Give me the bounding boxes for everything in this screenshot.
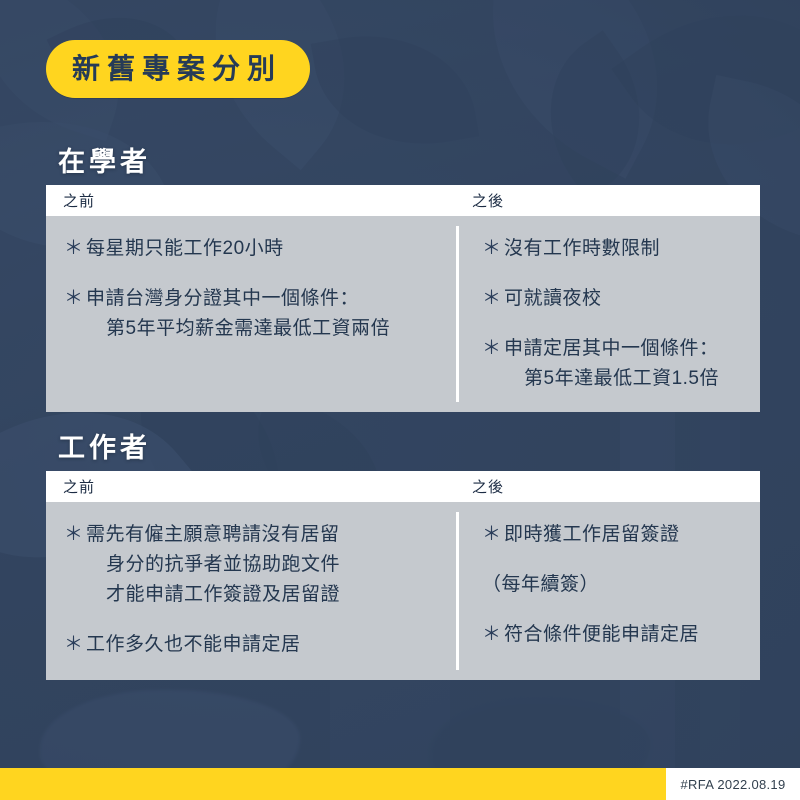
footer-credit: #RFA 2022.08.19 <box>666 768 800 800</box>
list-item-line: （每年續簽） <box>482 570 750 600</box>
list-item-line: 才能申請工作簽證及居留證 <box>86 580 446 610</box>
list-item-text: 申請台灣身分證其中一個條件： 第5年平均薪金需達最低工資兩倍 <box>86 284 446 344</box>
list-item-line: 可就讀夜校 <box>504 284 750 314</box>
section-student-heading: 在學者 <box>58 146 760 178</box>
list-item-line: 需先有僱主願意聘請沒有居留 <box>86 520 446 550</box>
list-item-line: 申請定居其中一個條件： <box>504 334 750 364</box>
table-body-row: ＊ 需先有僱主願意聘請沒有居留 身分的抗爭者並協助跑文件 才能申請工作簽證及居留… <box>46 502 760 680</box>
list-item-text: 可就讀夜校 <box>504 284 750 314</box>
asterisk-icon: ＊ <box>482 234 504 264</box>
list-item-text: 需先有僱主願意聘請沒有居留 身分的抗爭者並協助跑文件 才能申請工作簽證及居留證 <box>86 520 446 610</box>
list-item-line: 工作多久也不能申請定居 <box>86 630 446 660</box>
asterisk-icon: ＊ <box>482 620 504 650</box>
list-item-line: 第5年平均薪金需達最低工資兩倍 <box>86 314 446 344</box>
title-badge: 新舊專案分別 <box>46 40 310 98</box>
section-student: 在學者 之前 之後 ＊ 每星期只能工作20小時 ＊ <box>46 146 760 412</box>
list-item: ＊ 沒有工作時數限制 <box>482 234 750 264</box>
table-header-row: 之前 之後 <box>46 186 760 216</box>
column-before: ＊ 需先有僱主願意聘請沒有居留 身分的抗爭者並協助跑文件 才能申請工作簽證及居留… <box>46 502 456 680</box>
list-item-line: 第5年達最低工資1.5倍 <box>504 364 750 394</box>
list-item-line: 每星期只能工作20小時 <box>86 234 446 264</box>
column-header-after: 之後 <box>456 480 760 495</box>
list-item: ＊ 需先有僱主願意聘請沒有居留 身分的抗爭者並協助跑文件 才能申請工作簽證及居留… <box>64 520 446 610</box>
list-item-text: 符合條件便能申請定居 <box>504 620 750 650</box>
comparison-table-worker: 之前 之後 ＊ 需先有僱主願意聘請沒有居留 身分的抗爭者並協助跑文件 才能申請工… <box>46 471 760 680</box>
column-header-after: 之後 <box>456 194 760 209</box>
section-worker-heading: 工作者 <box>58 432 760 464</box>
list-item-line: 沒有工作時數限制 <box>504 234 750 264</box>
column-after: ＊ 沒有工作時數限制 ＊ 可就讀夜校 ＊ 申請定居 <box>456 216 760 412</box>
section-worker: 工作者 之前 之後 ＊ 需先有僱主願意聘請沒有居留 身分的抗爭者並協助跑文件 才… <box>46 432 760 680</box>
list-item-text: 即時獲工作居留簽證 <box>504 520 750 550</box>
asterisk-icon: ＊ <box>64 520 86 550</box>
column-header-before: 之前 <box>46 480 456 495</box>
title-badge-text: 新舊專案分別 <box>72 55 284 83</box>
list-item-line: 身分的抗爭者並協助跑文件 <box>86 550 446 580</box>
column-header-before: 之前 <box>46 194 456 209</box>
infographic-poster: 新舊專案分別 在學者 之前 之後 ＊ 每星期只能工作20小時 ＊ <box>0 0 800 800</box>
list-item-text: 申請定居其中一個條件： 第5年達最低工資1.5倍 <box>504 334 750 394</box>
list-item-text: （每年續簽） <box>482 570 750 600</box>
table-body-row: ＊ 每星期只能工作20小時 ＊ 申請台灣身分證其中一個條件： 第5年平均薪金需達… <box>46 216 760 412</box>
table-header-row: 之前 之後 <box>46 472 760 502</box>
list-item: ＊ 申請定居其中一個條件： 第5年達最低工資1.5倍 <box>482 334 750 394</box>
column-before: ＊ 每星期只能工作20小時 ＊ 申請台灣身分證其中一個條件： 第5年平均薪金需達… <box>46 216 456 412</box>
list-item-line: 符合條件便能申請定居 <box>504 620 750 650</box>
footer-accent-bar <box>0 768 666 800</box>
list-item-text: 工作多久也不能申請定居 <box>86 630 446 660</box>
list-item-line: 申請台灣身分證其中一個條件： <box>86 284 446 314</box>
asterisk-icon: ＊ <box>64 234 86 264</box>
list-item-text: 每星期只能工作20小時 <box>86 234 446 264</box>
asterisk-icon: ＊ <box>482 284 504 314</box>
asterisk-icon: ＊ <box>64 630 86 660</box>
asterisk-icon: ＊ <box>482 334 504 364</box>
list-item: ＊ 工作多久也不能申請定居 <box>64 630 446 660</box>
list-item: ＊ 可就讀夜校 <box>482 284 750 314</box>
list-item: ＊ 申請台灣身分證其中一個條件： 第5年平均薪金需達最低工資兩倍 <box>64 284 446 344</box>
list-item: （每年續簽） <box>482 570 750 600</box>
leaf-shape <box>311 18 480 162</box>
list-item: ＊ 每星期只能工作20小時 <box>64 234 446 264</box>
list-item: ＊ 符合條件便能申請定居 <box>482 620 750 650</box>
column-after: ＊ 即時獲工作居留簽證 （每年續簽） ＊ 符合條 <box>456 502 760 680</box>
comparison-table-student: 之前 之後 ＊ 每星期只能工作20小時 ＊ 申請台灣身分證其中一個條件： <box>46 185 760 412</box>
list-item-line: 即時獲工作居留簽證 <box>504 520 750 550</box>
footer: #RFA 2022.08.19 <box>0 768 800 800</box>
list-item-text: 沒有工作時數限制 <box>504 234 750 264</box>
list-item: ＊ 即時獲工作居留簽證 <box>482 520 750 550</box>
asterisk-icon: ＊ <box>64 284 86 314</box>
asterisk-icon: ＊ <box>482 520 504 550</box>
